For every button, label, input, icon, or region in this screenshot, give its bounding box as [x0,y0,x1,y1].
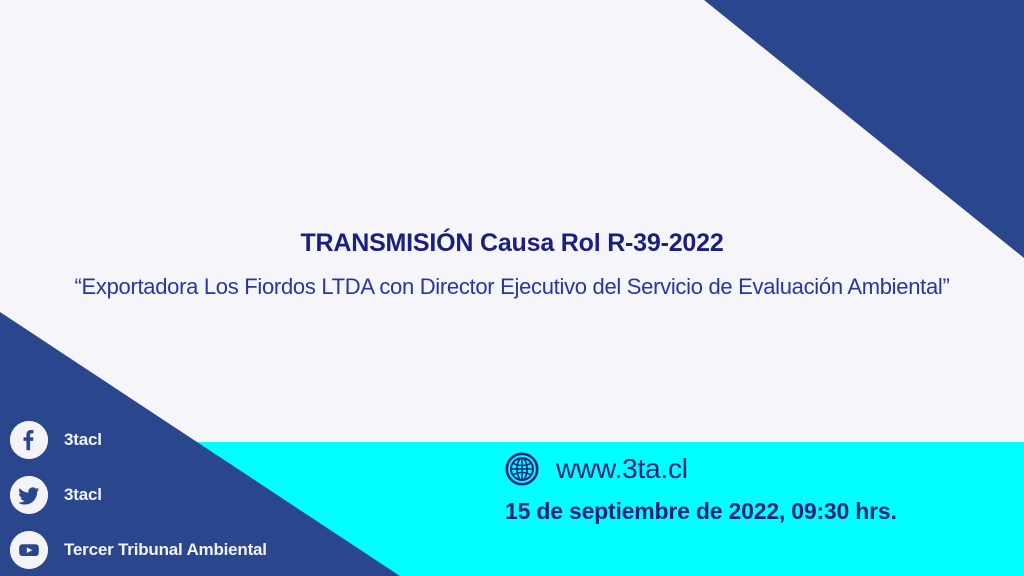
web-info-block: www.3ta.cl 15 de septiembre de 2022, 09:… [505,452,975,525]
social-links-list: 3tacl 3tacl Tercer Tribunal Ambiental [10,412,340,576]
page-title: TRANSMISIÓN Causa Rol R-39-2022 [0,228,1024,259]
headline-block: TRANSMISIÓN Causa Rol R-39-2022 “Exporta… [0,228,1024,302]
broadcast-announcement-slide: TRANSMISIÓN Causa Rol R-39-2022 “Exporta… [0,0,1024,576]
page-subtitle: “Exportadora Los Fiordos LTDA con Direct… [0,273,1024,302]
website-url-label: www.3ta.cl [556,453,688,485]
youtube-icon [10,531,48,569]
social-link-twitter[interactable]: 3tacl [10,467,340,522]
social-link-twitter-label: 3tacl [64,485,102,505]
website-link[interactable]: www.3ta.cl [505,452,975,486]
social-link-youtube[interactable]: Tercer Tribunal Ambiental [10,522,340,576]
social-link-facebook[interactable]: 3tacl [10,412,340,467]
top-right-navy-triangle [704,0,1024,258]
event-datetime: 15 de septiembre de 2022, 09:30 hrs. [505,498,975,525]
social-link-youtube-label: Tercer Tribunal Ambiental [64,540,267,560]
globe-icon [505,452,539,486]
twitter-icon [10,476,48,514]
social-link-facebook-label: 3tacl [64,430,102,450]
facebook-icon [10,421,48,459]
